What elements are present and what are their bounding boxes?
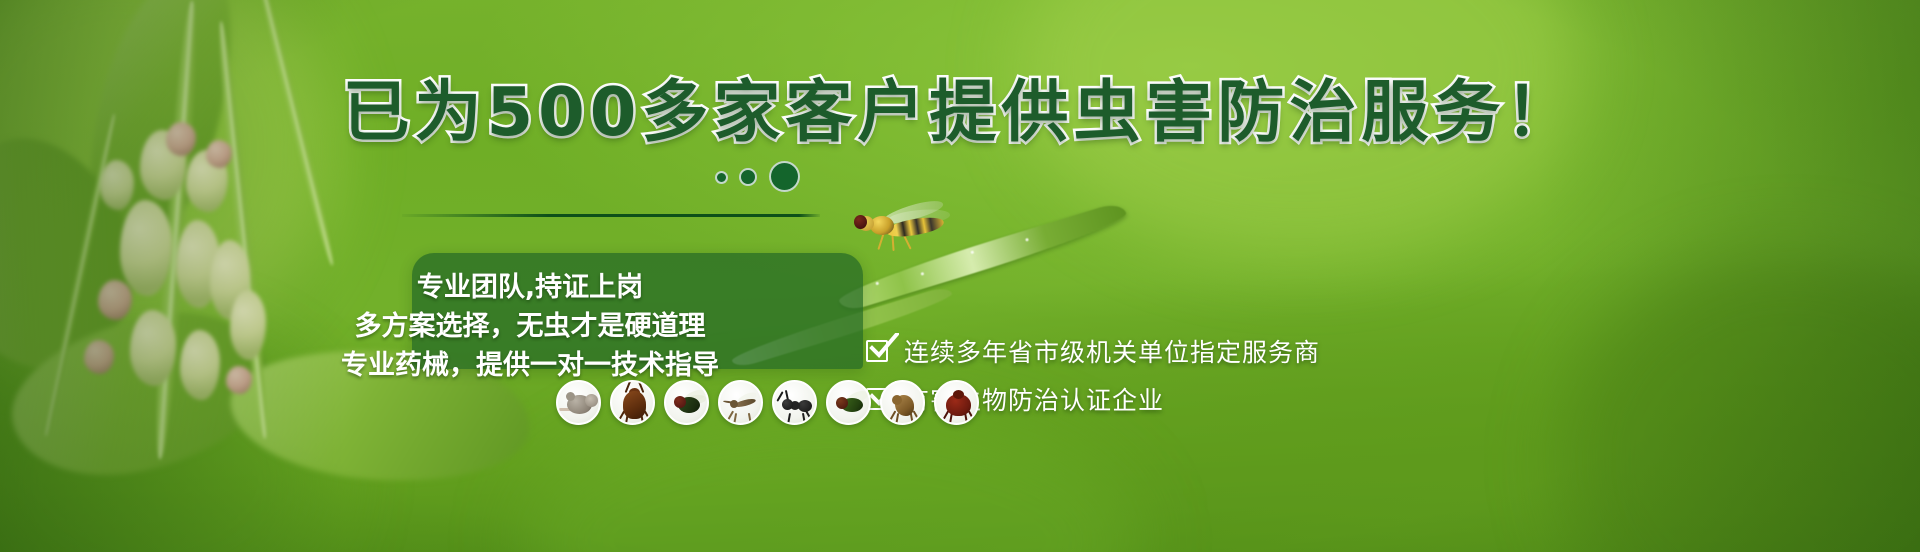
fly-icon[interactable]	[664, 380, 709, 425]
flea-icon[interactable]	[880, 380, 925, 425]
small-dot-icon	[715, 171, 728, 184]
rodent-icon[interactable]	[556, 380, 601, 425]
credential-label-1: 连续多年省市级机关单位指定服务商	[904, 333, 1320, 369]
medium-dot-icon	[739, 168, 757, 186]
decor-horizontal-rule	[402, 214, 820, 217]
checkbox-checked-icon	[866, 340, 888, 362]
check-mark-icon	[869, 333, 899, 359]
selling-point-line-3: 专业药械，提供一对一技术指导	[341, 343, 719, 382]
mosquito-icon[interactable]	[718, 380, 763, 425]
cockroach-icon[interactable]	[610, 380, 655, 425]
ant-icon[interactable]	[772, 380, 817, 425]
selling-points-text-group: 专业团队,持证上岗 多方案选择，无虫才是硬道理 专业药械，提供一对一技术指导	[330, 262, 730, 372]
pest-type-icon-row	[556, 380, 979, 425]
bedbug-icon[interactable]	[934, 380, 979, 425]
pest-control-promo-banner: 已为500多家客户提供虫害防治服务！ 专业团队,持证上岗 多方案选择，无虫才是硬…	[0, 0, 1920, 552]
page-title: 已为500多家客户提供虫害防治服务！	[0, 76, 1920, 148]
large-dot-icon	[769, 161, 800, 192]
selling-point-line-1: 专业团队,持证上岗	[417, 265, 643, 304]
decor-dot-group	[715, 161, 810, 195]
list-item: 连续多年省市级机关单位指定服务商	[866, 327, 1320, 375]
selling-point-line-2: 多方案选择，无虫才是硬道理	[355, 304, 706, 343]
green-fly-icon[interactable]	[826, 380, 871, 425]
